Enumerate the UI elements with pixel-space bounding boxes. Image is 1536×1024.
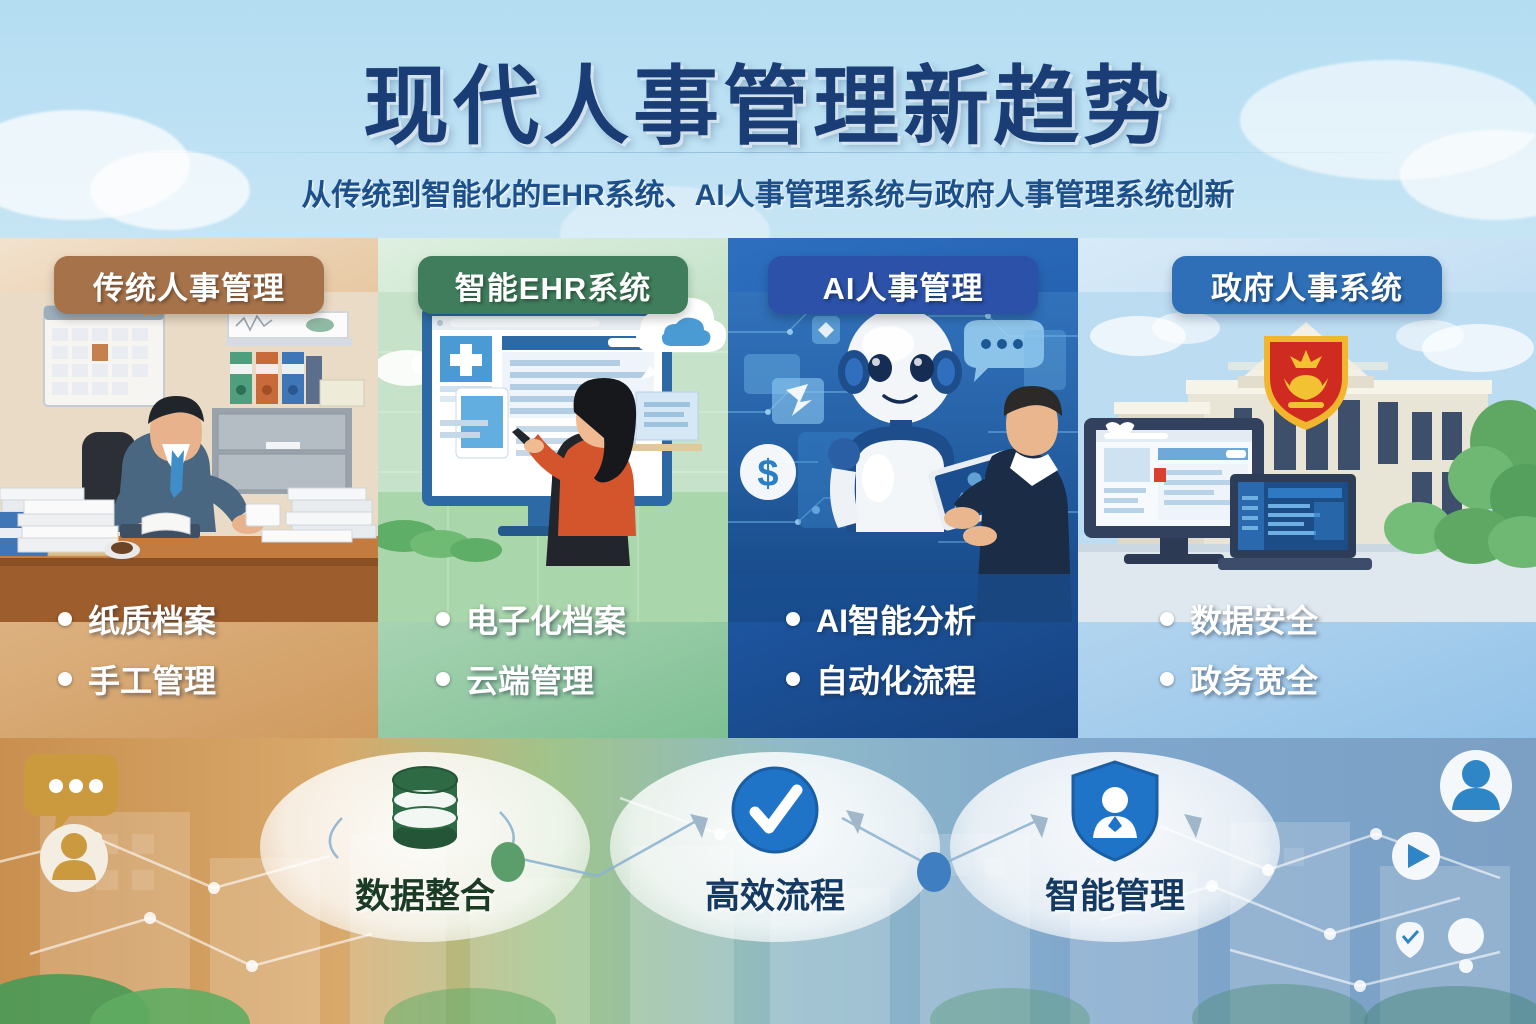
- bullet-item: 数据安全: [1160, 596, 1536, 642]
- user-avatar-icon: [1440, 750, 1512, 822]
- bullet-item: 自动化流程: [786, 656, 1078, 702]
- bullet-dot-icon: [436, 672, 450, 686]
- flow-node-label: 数据整合: [260, 868, 590, 919]
- right-decoration-group: [1390, 738, 1530, 1024]
- svg-text:$: $: [757, 453, 778, 495]
- bullet-label: 云端管理: [466, 656, 594, 702]
- bullet-label: 纸质档案: [88, 596, 216, 642]
- bullet-item: 纸质档案: [58, 596, 378, 642]
- bullet-label: 自动化流程: [816, 656, 976, 702]
- flow-node-efficient-process: 高效流程: [610, 756, 940, 919]
- page-title: 现代人事管理新趋势: [0, 36, 1536, 161]
- bullet-dot-icon: [1160, 672, 1174, 686]
- scene-government-building-emblem-computers: [1078, 292, 1536, 622]
- bullet-item: 政务宽全: [1160, 656, 1536, 702]
- bullet-dot-icon: [1160, 612, 1174, 626]
- bullet-item: 电子化档案: [436, 596, 728, 642]
- bullets-ai-hr: AI智能分析 自动化流程: [728, 596, 1078, 716]
- panel-heading-traditional-hr: 传统人事管理: [54, 256, 324, 314]
- check-badge-icon: [1396, 922, 1424, 958]
- panel-ai-hr: AI人事管理: [728, 238, 1078, 738]
- bullet-dot-icon: [58, 612, 72, 626]
- bullets-gov-hr: 数据安全 政务宽全: [1078, 596, 1536, 716]
- poster-header: 现代人事管理新趋势 从传统到智能化的EHR系统、AI人事管理系统与政府人事管理系…: [0, 0, 1536, 236]
- flow-node-smart-management: 智能管理: [950, 756, 1280, 919]
- bullet-label: 政务宽全: [1190, 656, 1318, 702]
- panel-heading-ai-hr: AI人事管理: [768, 256, 1038, 314]
- flow-node-data-integration: 数据整合: [260, 756, 590, 919]
- location-pin-icon: [1448, 918, 1484, 973]
- bullet-dot-icon: [436, 612, 450, 626]
- panel-heading-gov-hr: 政府人事系统: [1172, 256, 1442, 314]
- bullets-smart-ehr: 电子化档案 云端管理: [378, 596, 728, 716]
- bullet-item: 手工管理: [58, 656, 378, 702]
- panel-traditional-hr: 传统人事管理: [0, 238, 378, 738]
- panel-gov-hr: 政府人事系统: [1078, 238, 1536, 738]
- left-decoration-group: [22, 746, 132, 896]
- shield-person-icon: [950, 756, 1280, 864]
- user-avatar-icon: [40, 824, 108, 892]
- bullets-traditional-hr: 纸质档案 手工管理: [0, 596, 378, 716]
- bullet-label: AI智能分析: [816, 596, 976, 642]
- bullet-label: 电子化档案: [466, 596, 626, 642]
- bullet-label: 手工管理: [88, 656, 216, 702]
- bullet-label: 数据安全: [1190, 596, 1318, 642]
- scene-robot-and-businessman-tablet: $: [728, 292, 1078, 622]
- play-arrow-icon: [1392, 832, 1440, 880]
- scene-woman-monitor-ehr-cloud: [378, 292, 728, 622]
- page-subtitle: 从传统到智能化的EHR系统、AI人事管理系统与政府人事管理系统创新: [0, 170, 1536, 214]
- title-divider: [120, 152, 1416, 153]
- comparison-panels: 传统人事管理: [0, 238, 1536, 738]
- flow-node-label: 高效流程: [610, 868, 940, 919]
- database-icon: [260, 756, 590, 864]
- panel-heading-smart-ehr: 智能EHR系统: [418, 256, 688, 314]
- bullet-item: 云端管理: [436, 656, 728, 702]
- flow-node-label: 智能管理: [950, 868, 1280, 919]
- infographic-poster: 现代人事管理新趋势 从传统到智能化的EHR系统、AI人事管理系统与政府人事管理系…: [0, 0, 1536, 1024]
- bullet-dot-icon: [786, 672, 800, 686]
- bullet-dot-icon: [786, 612, 800, 626]
- panel-smart-ehr: 智能EHR系统: [378, 238, 728, 738]
- check-circle-icon: [610, 756, 940, 864]
- scene-office-worker-paper-files: [0, 292, 378, 622]
- chat-bubble-icon: [24, 754, 118, 836]
- flow-summary: 数据整合 高效流程: [250, 752, 1310, 952]
- bullet-dot-icon: [58, 672, 72, 686]
- bullet-item: AI智能分析: [786, 596, 1078, 642]
